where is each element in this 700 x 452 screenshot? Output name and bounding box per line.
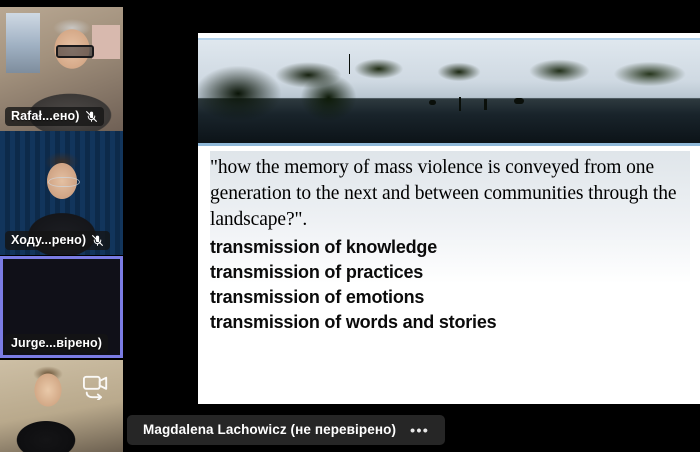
photo-detail	[459, 97, 461, 111]
active-speaker-name: Magdalena Lachowicz (не перевірено)	[143, 422, 396, 437]
participant-tile-1[interactable]: Rafał...ено)	[0, 7, 123, 131]
photo-detail	[484, 99, 487, 110]
participant-tile-2[interactable]: Ходу...рено)	[0, 131, 123, 255]
photo-detail	[349, 54, 351, 74]
slide-bullet-item: transmission of emotions	[210, 285, 690, 310]
slide-bullet-item: transmission of practices	[210, 260, 690, 285]
participant-filmstrip: Rafał...ено) Ходу...рено)	[0, 0, 123, 452]
photo-detail	[514, 98, 524, 104]
participant-name-label-2: Ходу...рено)	[11, 233, 86, 247]
slide-bullet-item: transmission of words and stories	[210, 310, 690, 335]
presentation-slide: "how the memory of mass violence is conv…	[198, 33, 700, 404]
slide-bullet-item: transmission of knowledge	[210, 235, 690, 260]
switch-camera-icon[interactable]	[81, 374, 111, 400]
participant-name-chip-1: Rafał...ено)	[5, 107, 104, 126]
more-options-button[interactable]: •••	[410, 423, 429, 437]
participant-tile-4[interactable]	[0, 360, 123, 452]
participant-name-label-3: Jurge...вірено)	[11, 336, 102, 350]
slide-photo-wetland-landscape	[198, 40, 700, 143]
participant-name-label-1: Rafał...ено)	[11, 109, 80, 123]
participant-name-chip-2: Ходу...рено)	[5, 231, 110, 250]
shared-screen-stage[interactable]: "how the memory of mass violence is conv…	[123, 0, 700, 452]
participant-name-chip-3: Jurge...вірено)	[5, 334, 108, 353]
participant-tile-3[interactable]: Jurge...вірено)	[0, 256, 123, 358]
active-speaker-bar: Magdalena Lachowicz (не перевірено) •••	[127, 415, 445, 445]
slide-photo-frame	[198, 38, 700, 146]
microphone-muted-icon	[85, 110, 98, 123]
slide-quote: "how the memory of mass violence is conv…	[210, 155, 690, 233]
microphone-muted-icon	[91, 234, 104, 247]
photo-detail	[429, 100, 436, 105]
video-conference-window: Rafał...ено) Ходу...рено)	[0, 0, 700, 452]
slide-bullet-list: transmission of knowledge transmission o…	[210, 235, 690, 335]
slide-text-block: "how the memory of mass violence is conv…	[210, 151, 690, 335]
